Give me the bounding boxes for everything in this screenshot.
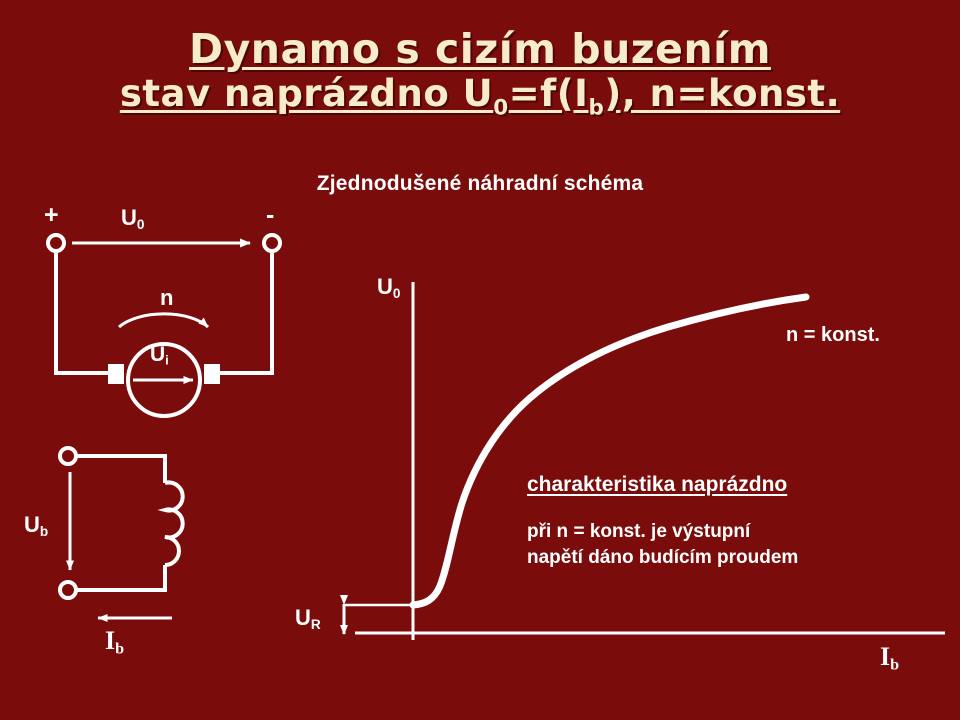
terminal-plus-label: +	[44, 203, 59, 228]
speed-direction-arrow	[119, 314, 208, 327]
coil-icon	[165, 483, 183, 566]
terminal-positive-icon	[48, 235, 64, 251]
brush-left-icon	[108, 364, 124, 384]
ur-label: UR	[295, 607, 321, 631]
ub-label: Ub	[24, 514, 48, 538]
armature-circuit-drawing	[48, 235, 280, 416]
y-axis-label: U0	[377, 276, 400, 300]
field-winding-drawing	[60, 448, 183, 618]
field-wire-top	[76, 456, 165, 483]
field-terminal-top-icon	[60, 448, 76, 464]
diagram-layer	[0, 0, 960, 720]
annotation-body-line-1: při n = konst. je výstupní	[527, 520, 750, 544]
x-axis-label: Ib	[880, 644, 899, 674]
wire-left	[56, 251, 112, 373]
annotation-heading: charakteristika naprázdno	[527, 472, 787, 498]
u0-label: U0	[121, 207, 144, 231]
n-konst-label: n = konst.	[786, 325, 880, 345]
ib-label: Ib	[105, 628, 124, 658]
brush-right-icon	[204, 364, 220, 384]
wire-right	[216, 251, 272, 373]
ui-label: Ui	[150, 344, 169, 367]
field-wire-bottom	[76, 565, 165, 590]
field-terminal-bottom-icon	[60, 582, 76, 598]
slide-canvas: Dynamo s cizím buzením stav naprázdno U0…	[0, 0, 960, 720]
speed-label: n	[160, 287, 173, 309]
terminal-negative-icon	[264, 235, 280, 251]
annotation-body-line-2: napětí dáno budícím proudem	[527, 546, 798, 570]
terminal-minus-label: -	[266, 203, 274, 228]
